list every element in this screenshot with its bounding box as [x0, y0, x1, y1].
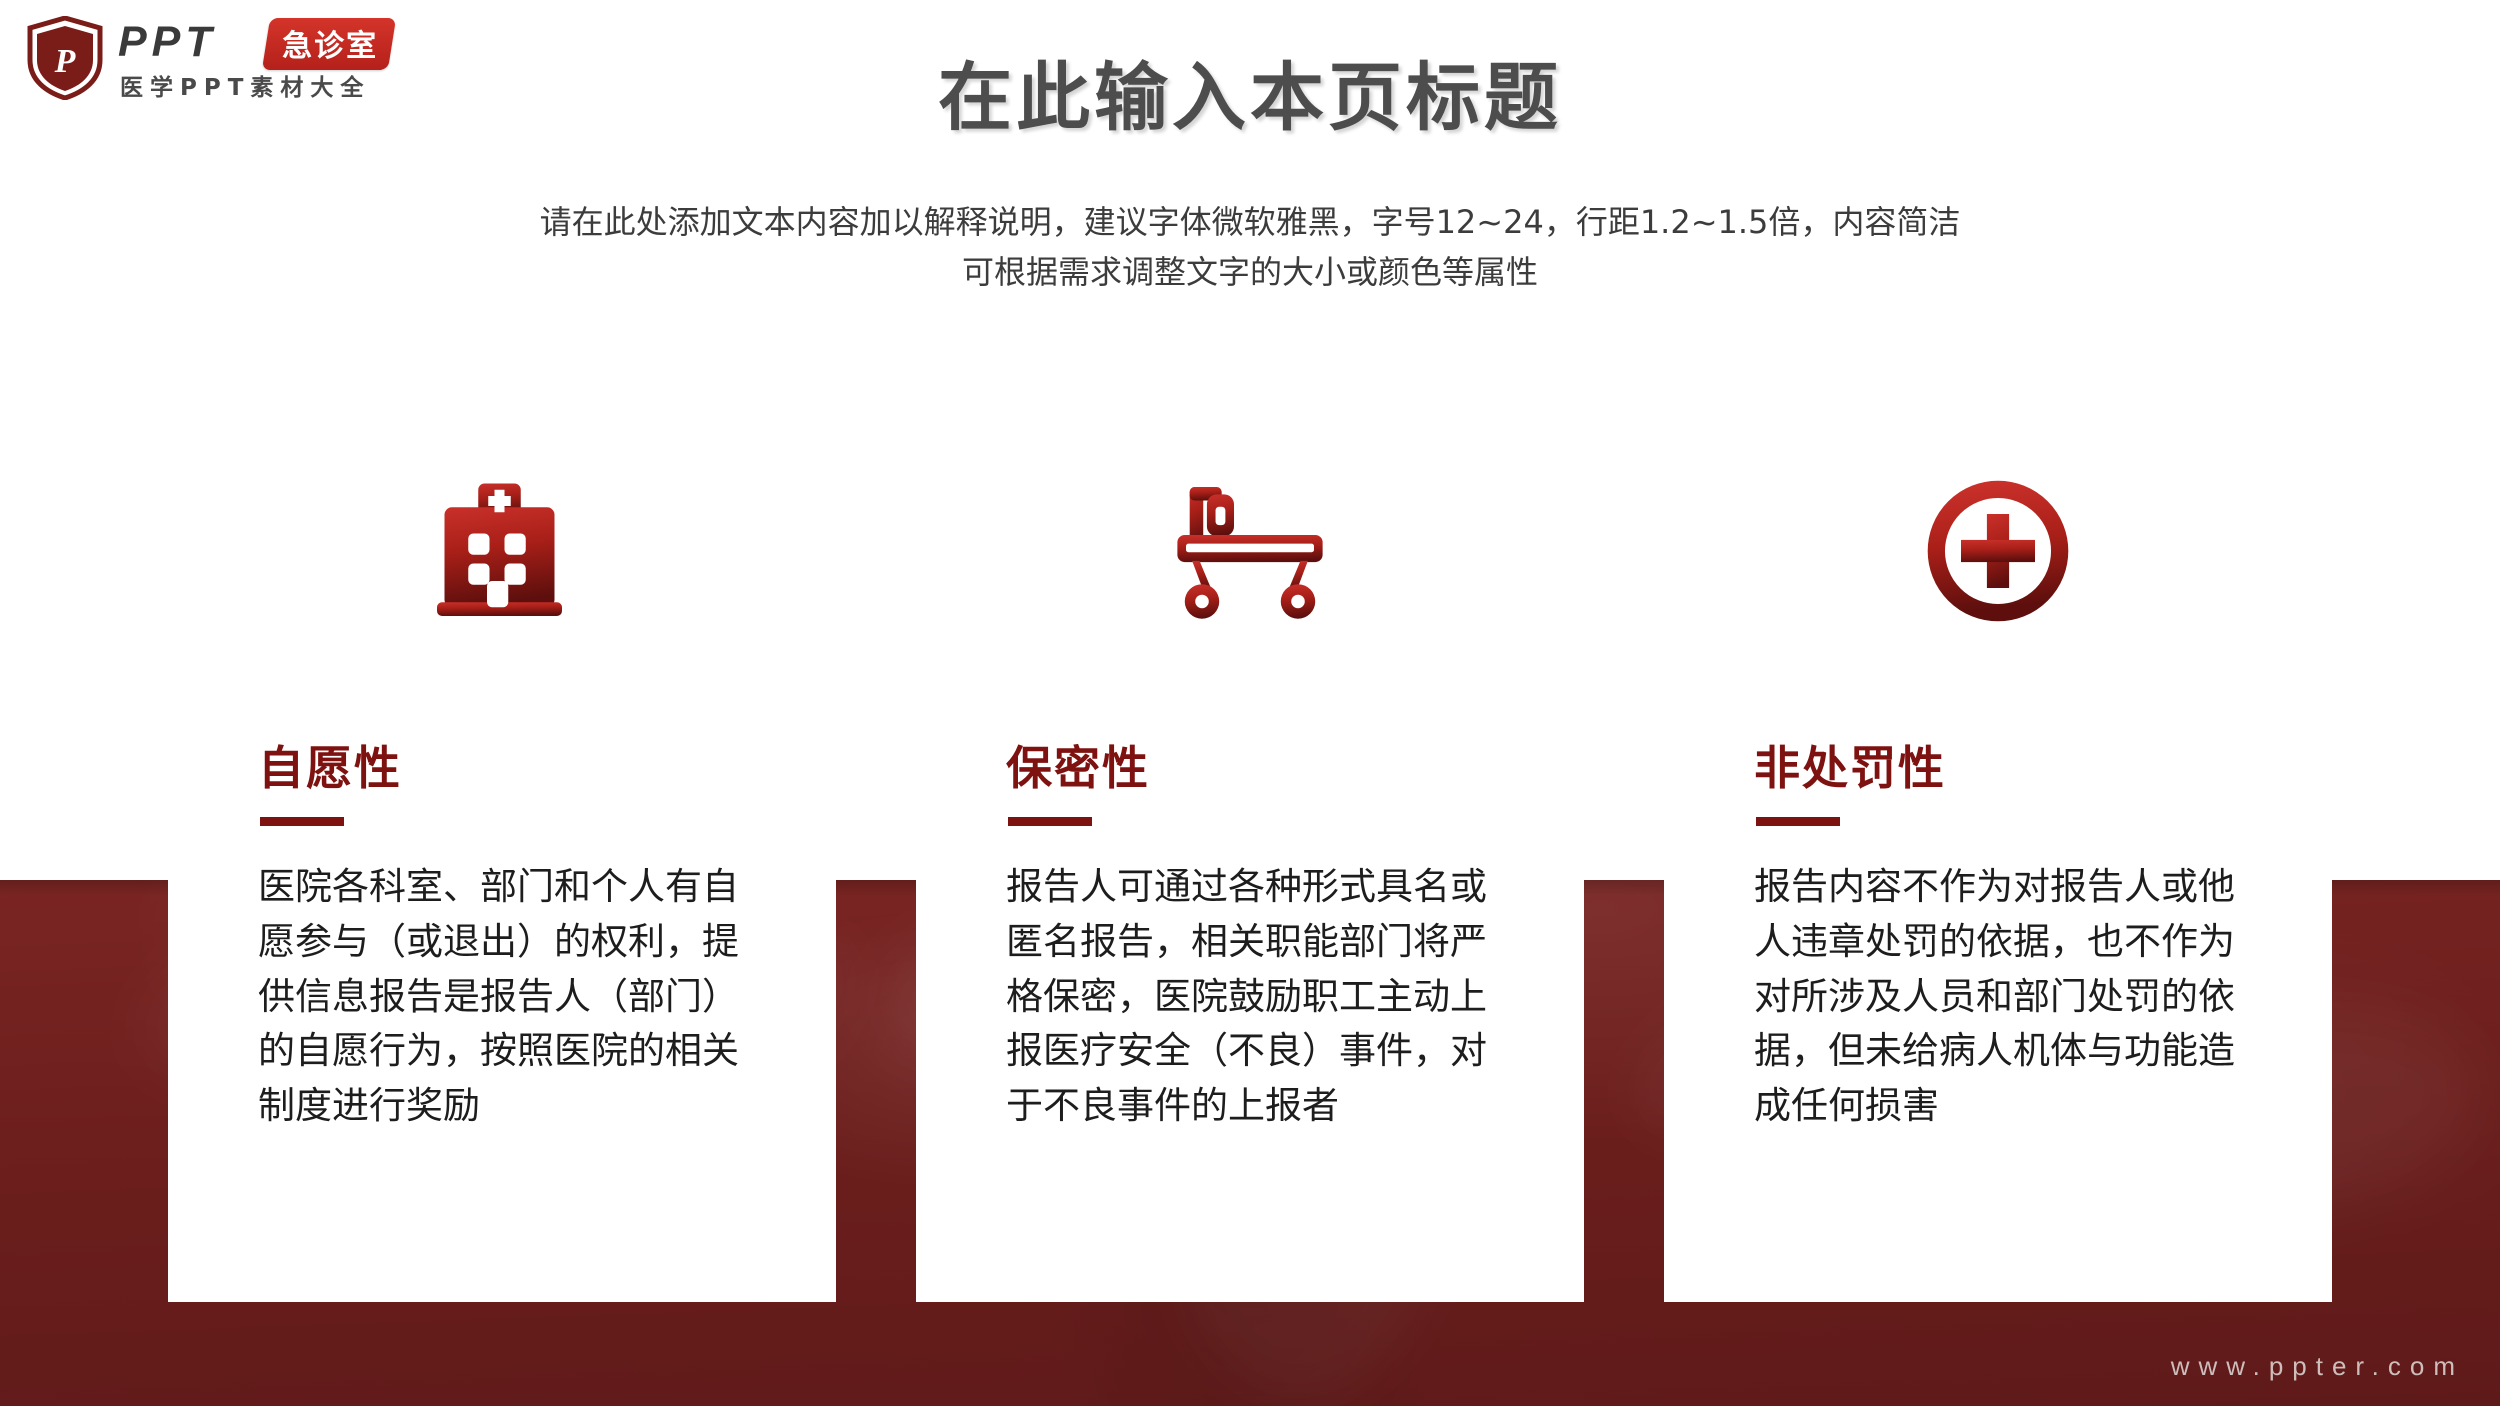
card-divider [1756, 817, 1840, 826]
card-non-punitive[interactable]: 非处罚性 报告内容不作为对报告人或他人违章处罚的依据，也不作为对所涉及人员和部门… [1664, 412, 2332, 1302]
page-title: 在此输入本页标题 [0, 38, 2500, 145]
card-title: 非处罚性 [1754, 732, 1946, 798]
slide-canvas: P PPT 急诊室 医学PPT素材大全 在此输入本页标题 请在此处添加文本内容加… [0, 0, 2500, 1406]
card-text-panel: 非处罚性 报告内容不作为对报告人或他人违章处罚的依据，也不作为对所涉及人员和部门… [1708, 682, 2288, 1260]
page-subtitle-line-2: 可根据需求调整文字的大小或颜色等属性 [0, 248, 2500, 298]
card-body-text: 医院各科室、部门和个人有自愿参与（或退出）的权利，提供信息报告是报告人（部门）的… [258, 860, 756, 1134]
card-text-panel: 自愿性 医院各科室、部门和个人有自愿参与（或退出）的权利，提供信息报告是报告人（… [212, 682, 792, 1260]
card-title: 保密性 [1006, 732, 1150, 798]
card-title: 自愿性 [258, 732, 402, 798]
card-body-text: 报告人可通过各种形式具名或匿名报告，相关职能部门将严格保密，医院鼓励职工主动上报… [1006, 860, 1504, 1134]
page-subtitle: 请在此处添加文本内容加以解释说明，建议字体微软雅黑，字号12~24，行距1.2~… [0, 198, 2500, 297]
hospital-building-icon [168, 466, 836, 636]
stretcher-gurney-icon [916, 466, 1584, 636]
red-cross-circle-icon [1664, 466, 2332, 636]
card-confidential[interactable]: 保密性 报告人可通过各种形式具名或匿名报告，相关职能部门将严格保密，医院鼓励职工… [916, 412, 1584, 1302]
card-row: 自愿性 医院各科室、部门和个人有自愿参与（或退出）的权利，提供信息报告是报告人（… [0, 412, 2500, 1312]
card-divider [1008, 817, 1092, 826]
card-voluntary[interactable]: 自愿性 医院各科室、部门和个人有自愿参与（或退出）的权利，提供信息报告是报告人（… [168, 412, 836, 1302]
card-divider [260, 817, 344, 826]
card-text-panel: 保密性 报告人可通过各种形式具名或匿名报告，相关职能部门将严格保密，医院鼓励职工… [960, 682, 1540, 1260]
page-subtitle-line-1: 请在此处添加文本内容加以解释说明，建议字体微软雅黑，字号12~24，行距1.2~… [0, 198, 2500, 248]
card-body-text: 报告内容不作为对报告人或他人违章处罚的依据，也不作为对所涉及人员和部门处罚的依据… [1754, 860, 2252, 1134]
footer-watermark: www.ppter.com [2171, 1351, 2464, 1382]
